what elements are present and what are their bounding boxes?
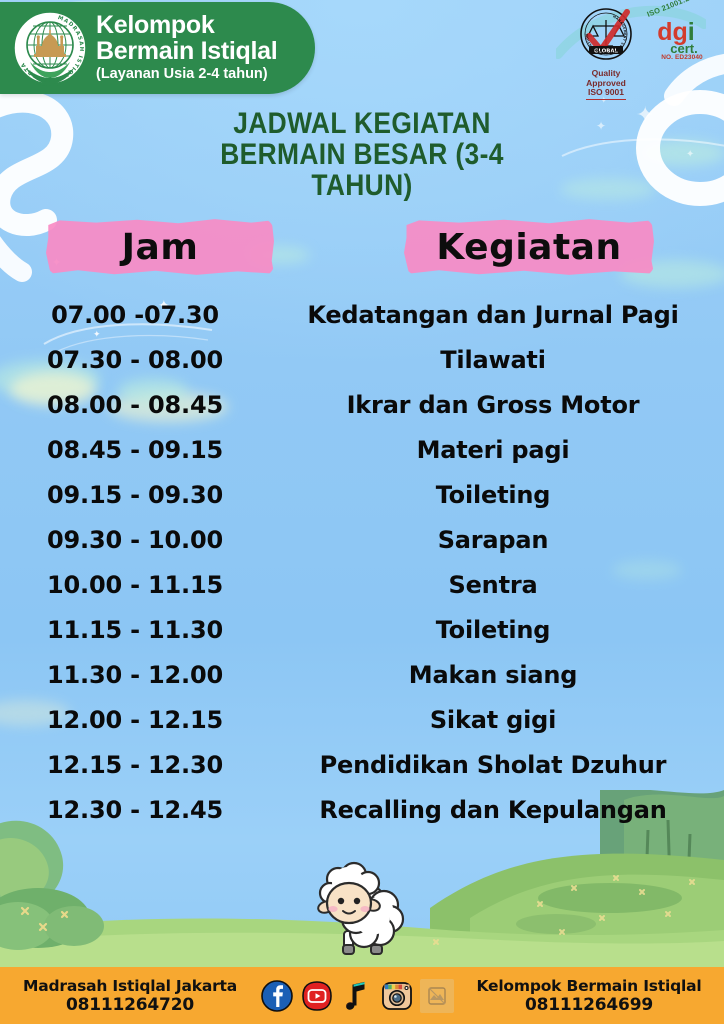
- row-time: 07.00 -07.30: [0, 301, 270, 329]
- row-activity: Kedatangan dan Jurnal Pagi: [270, 301, 724, 329]
- column-header-kegiatan: Kegiatan: [404, 218, 654, 276]
- placeholder-image-icon[interactable]: [420, 979, 454, 1013]
- row-time: 11.30 - 12.00: [0, 661, 270, 689]
- table-row: 11.30 - 12.00 Makan siang: [0, 652, 724, 697]
- brand-line-3: (Layanan Usia 2-4 tahun): [96, 64, 277, 84]
- brand-line-2: Bermain Istiqlal: [96, 38, 277, 64]
- iso-underline: [586, 99, 626, 101]
- table-row: 11.15 - 11.30 Toileting: [0, 607, 724, 652]
- row-activity: Tilawati: [270, 346, 724, 374]
- row-time: 09.30 - 10.00: [0, 526, 270, 554]
- row-time: 12.30 - 12.45: [0, 796, 270, 824]
- sheep-mascot: [310, 849, 414, 961]
- table-row: 09.30 - 10.00 Sarapan: [0, 517, 724, 562]
- dgi-wordmark: dgi: [636, 21, 716, 43]
- table-row: 09.15 - 09.30 Toileting: [0, 472, 724, 517]
- row-activity: Toileting: [270, 481, 724, 509]
- row-activity: Materi pagi: [270, 436, 724, 464]
- table-row: 07.30 - 08.00 Tilawati: [0, 337, 724, 382]
- footer-left-name: Madrasah Istiqlal Jakarta: [23, 977, 237, 995]
- table-row: 08.00 - 08.45 Ikrar dan Gross Motor: [0, 382, 724, 427]
- column-header-jam: Jam: [46, 218, 274, 276]
- row-activity: Sentra: [270, 571, 724, 599]
- table-row: 12.15 - 12.30 Pendidikan Sholat Dzuhur: [0, 742, 724, 787]
- youtube-icon[interactable]: [300, 979, 334, 1013]
- table-row: 10.00 - 11.15 Sentra: [0, 562, 724, 607]
- row-activity: Pendidikan Sholat Dzuhur: [270, 751, 724, 779]
- row-time: 08.00 - 08.45: [0, 391, 270, 419]
- iso-scales-checkmark-badge: GLOBAL MANAGEMENT SYSTEM CERTIFICATION Q…: [574, 6, 638, 100]
- row-activity: Makan siang: [270, 661, 724, 689]
- footer-contact-bar: Madrasah Istiqlal Jakarta 08111264720: [0, 967, 724, 1024]
- column-header-jam-label: Jam: [122, 227, 199, 268]
- iso-line-3: ISO 9001: [574, 88, 638, 98]
- certification-badges: GLOBAL MANAGEMENT SYSTEM CERTIFICATION Q…: [566, 4, 716, 99]
- row-activity: Recalling dan Kepulangan: [270, 796, 724, 824]
- row-time: 12.15 - 12.30: [0, 751, 270, 779]
- footer-right-phone: 08111264699: [464, 996, 714, 1015]
- page-title: JADWAL KEGIATAN BERMAIN BESAR (3-4 TAHUN…: [43, 108, 680, 201]
- footer-right-name: Kelompok Bermain Istiqlal: [476, 977, 701, 995]
- row-activity: Toileting: [270, 616, 724, 644]
- table-header-row: Jam Kegiatan: [0, 212, 724, 280]
- footer-left-phone: 08111264720: [10, 996, 250, 1015]
- row-time: 08.45 - 09.15: [0, 436, 270, 464]
- brand-logo-pill: MADRASAH ISTIQLAL JAKARTA Kelompok Berma…: [0, 2, 315, 94]
- title-line-1: JADWAL KEGIATAN: [43, 108, 680, 139]
- schedule-table: 07.00 -07.30 Kedatangan dan Jurnal Pagi …: [0, 292, 724, 832]
- row-time: 10.00 - 11.15: [0, 571, 270, 599]
- table-row: 07.00 -07.30 Kedatangan dan Jurnal Pagi: [0, 292, 724, 337]
- column-header-kegiatan-label: Kegiatan: [436, 227, 621, 268]
- footer-left-contact: Madrasah Istiqlal Jakarta 08111264720: [10, 977, 250, 1015]
- footer-right-contact: Kelompok Bermain Istiqlal 08111264699: [464, 977, 714, 1015]
- table-row: 12.00 - 12.15 Sikat gigi: [0, 697, 724, 742]
- row-activity: Sarapan: [270, 526, 724, 554]
- table-row: 12.30 - 12.45 Recalling dan Kepulangan: [0, 787, 724, 832]
- social-icons: [260, 979, 454, 1013]
- poster-canvas: ✦ ✦ ✦ ✦ ✦ ✦ ✦ ✦: [0, 0, 724, 1024]
- dgi-cert-number: NO. ED23040: [648, 54, 716, 61]
- instagram-icon[interactable]: [380, 979, 414, 1013]
- title-line-2: BERMAIN BESAR (3-4: [43, 139, 680, 170]
- row-time: 07.30 - 08.00: [0, 346, 270, 374]
- facebook-icon[interactable]: [260, 979, 294, 1013]
- table-row: 08.45 - 09.15 Materi pagi: [0, 427, 724, 472]
- brand-line-1: Kelompok: [96, 12, 277, 38]
- row-activity: Ikrar dan Gross Motor: [270, 391, 724, 419]
- dgi-cert-logo: ISO 21001:2018 dgi cert. NO. ED23040: [636, 14, 716, 61]
- tiktok-music-note-icon[interactable]: [340, 979, 374, 1013]
- madrasah-globe-mosque-logo: MADRASAH ISTIQLAL JAKARTA: [12, 10, 88, 86]
- brand-text-block: Kelompok Bermain Istiqlal (Layanan Usia …: [96, 12, 277, 84]
- row-time: 09.15 - 09.30: [0, 481, 270, 509]
- title-line-3: TAHUN): [43, 170, 680, 201]
- row-time: 12.00 - 12.15: [0, 706, 270, 734]
- row-activity: Sikat gigi: [270, 706, 724, 734]
- row-time: 11.15 - 11.30: [0, 616, 270, 644]
